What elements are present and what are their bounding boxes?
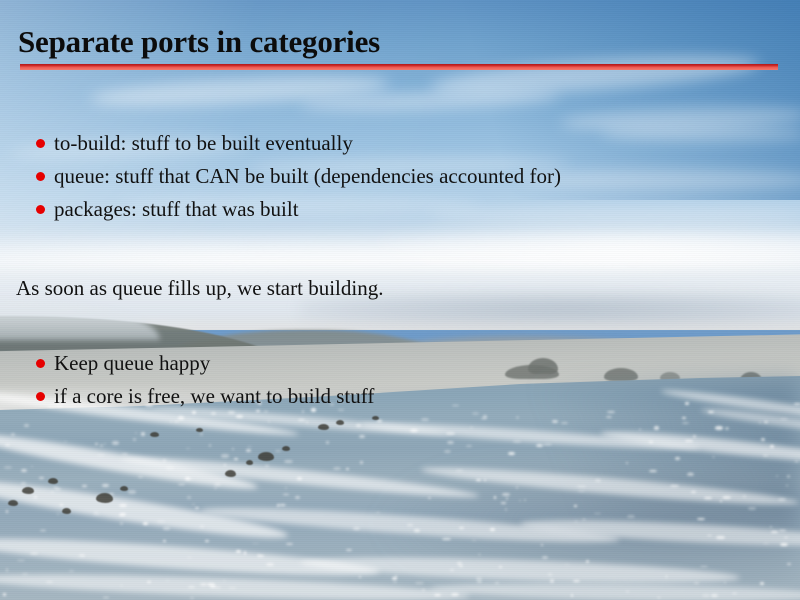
bullet-dot-icon — [36, 172, 45, 181]
list-item: if a core is free, we want to build stuf… — [36, 383, 374, 409]
bullet-list-categories: to-build: stuff to be built eventually q… — [36, 130, 561, 229]
bullet-dot-icon — [36, 205, 45, 214]
list-item-label: Keep queue happy — [54, 350, 210, 376]
list-item: packages: stuff that was built — [36, 196, 561, 222]
bullet-dot-icon — [36, 139, 45, 148]
presentation-slide: Separate ports in categories to-build: s… — [0, 0, 800, 600]
slide-body: to-build: stuff to be built eventually q… — [0, 0, 800, 600]
list-item: to-build: stuff to be built eventually — [36, 130, 561, 156]
slide-content: Separate ports in categories to-build: s… — [0, 0, 800, 600]
list-item-label: if a core is free, we want to build stuf… — [54, 383, 374, 409]
list-item: queue: stuff that CAN be built (dependen… — [36, 163, 561, 189]
list-item: Keep queue happy — [36, 350, 374, 376]
bullet-list-queue-behaviour: Keep queue happy if a core is free, we w… — [36, 350, 374, 416]
list-item-label: to-build: stuff to be built eventually — [54, 130, 353, 156]
bullet-dot-icon — [36, 359, 45, 368]
list-item-label: queue: stuff that CAN be built (dependen… — [54, 163, 561, 189]
body-paragraph: As soon as queue fills up, we start buil… — [16, 275, 383, 301]
list-item-label: packages: stuff that was built — [54, 196, 299, 222]
bullet-dot-icon — [36, 392, 45, 401]
